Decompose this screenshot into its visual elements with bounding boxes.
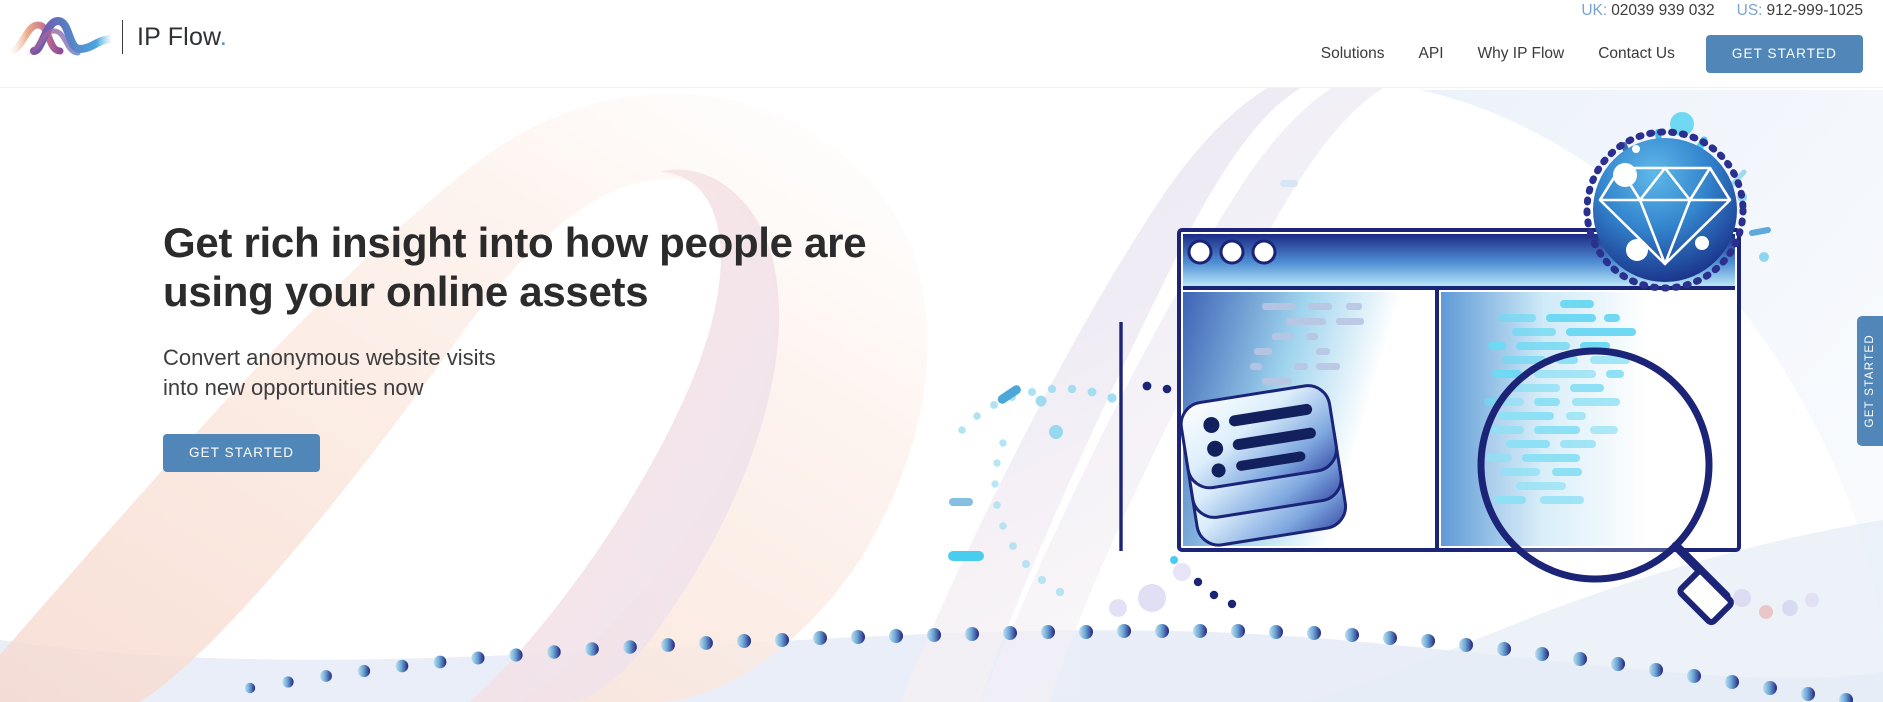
ipflow-wave-logo-icon bbox=[8, 9, 120, 65]
pink-dot-trail bbox=[1533, 240, 1609, 355]
window-left-text-lines bbox=[1250, 303, 1364, 535]
decorative-dashes bbox=[948, 180, 1819, 619]
brand-dot: . bbox=[220, 23, 227, 51]
dotted-arc-right bbox=[1143, 382, 1237, 609]
diamond-gem-badge bbox=[1587, 112, 1769, 288]
hero-get-started-button[interactable]: GET STARTED bbox=[163, 434, 320, 472]
magnifying-glass-icon bbox=[1481, 351, 1733, 624]
browser-dot bbox=[1221, 241, 1243, 263]
browser-dot bbox=[1253, 241, 1275, 263]
nav-item-solutions[interactable]: Solutions bbox=[1304, 34, 1402, 74]
nav-item-why-ip-flow[interactable]: Why IP Flow bbox=[1461, 34, 1582, 74]
side-tab-label: GET STARTED bbox=[1864, 334, 1876, 428]
bottom-band bbox=[0, 630, 1883, 702]
page-root: IP Flow. UK:02039 939 032 US:912-999-102… bbox=[0, 0, 1883, 702]
side-get-started-tab[interactable]: GET STARTED bbox=[1857, 316, 1883, 446]
stacked-layers-icon bbox=[1178, 383, 1349, 549]
site-header: IP Flow. UK:02039 939 032 US:912-999-102… bbox=[0, 0, 1883, 88]
dotted-arc bbox=[958, 385, 1116, 596]
nav-item-contact-us[interactable]: Contact Us bbox=[1581, 34, 1692, 74]
ribbon-lavender bbox=[900, 69, 1360, 702]
phone-uk[interactable]: UK:02039 939 032 bbox=[1581, 2, 1714, 20]
ribbon-blue-right bbox=[1420, 90, 1883, 640]
logo-divider bbox=[122, 20, 123, 54]
phone-us-label: US: bbox=[1737, 2, 1763, 19]
logo[interactable]: IP Flow. bbox=[8, 6, 228, 68]
hero-title: Get rich insight into how people are usi… bbox=[163, 218, 923, 316]
header-phone-numbers: UK:02039 939 032 US:912-999-1025 bbox=[1581, 2, 1863, 20]
nav-item-api[interactable]: API bbox=[1402, 34, 1461, 74]
logo-text: IP Flow. bbox=[137, 23, 227, 52]
hero-section: Get rich insight into how people are usi… bbox=[163, 218, 923, 472]
main-navigation: Solutions API Why IP Flow Contact Us GET… bbox=[1304, 34, 1863, 74]
browser-window-illustration bbox=[1179, 230, 1739, 550]
header-get-started-button[interactable]: GET STARTED bbox=[1706, 35, 1863, 73]
phone-uk-label: UK: bbox=[1581, 2, 1607, 19]
window-right-text-lines bbox=[1484, 300, 1636, 504]
browser-dot bbox=[1189, 241, 1211, 263]
phone-us-number: 912-999-1025 bbox=[1766, 2, 1863, 19]
hero-subtitle-line2: into new opportunities now bbox=[163, 375, 424, 400]
ribbon-blue-right-low bbox=[1300, 520, 1883, 702]
brand-name: IP Flow bbox=[137, 23, 220, 51]
decorative-dot-row bbox=[245, 624, 1853, 702]
hero-subtitle: Convert anonymous website visits into ne… bbox=[163, 343, 923, 402]
hero-subtitle-line1: Convert anonymous website visits bbox=[163, 345, 496, 370]
phone-uk-number: 02039 939 032 bbox=[1611, 2, 1714, 19]
ribbon-lavender-2 bbox=[980, 63, 1450, 702]
phone-us[interactable]: US:912-999-1025 bbox=[1737, 2, 1863, 20]
